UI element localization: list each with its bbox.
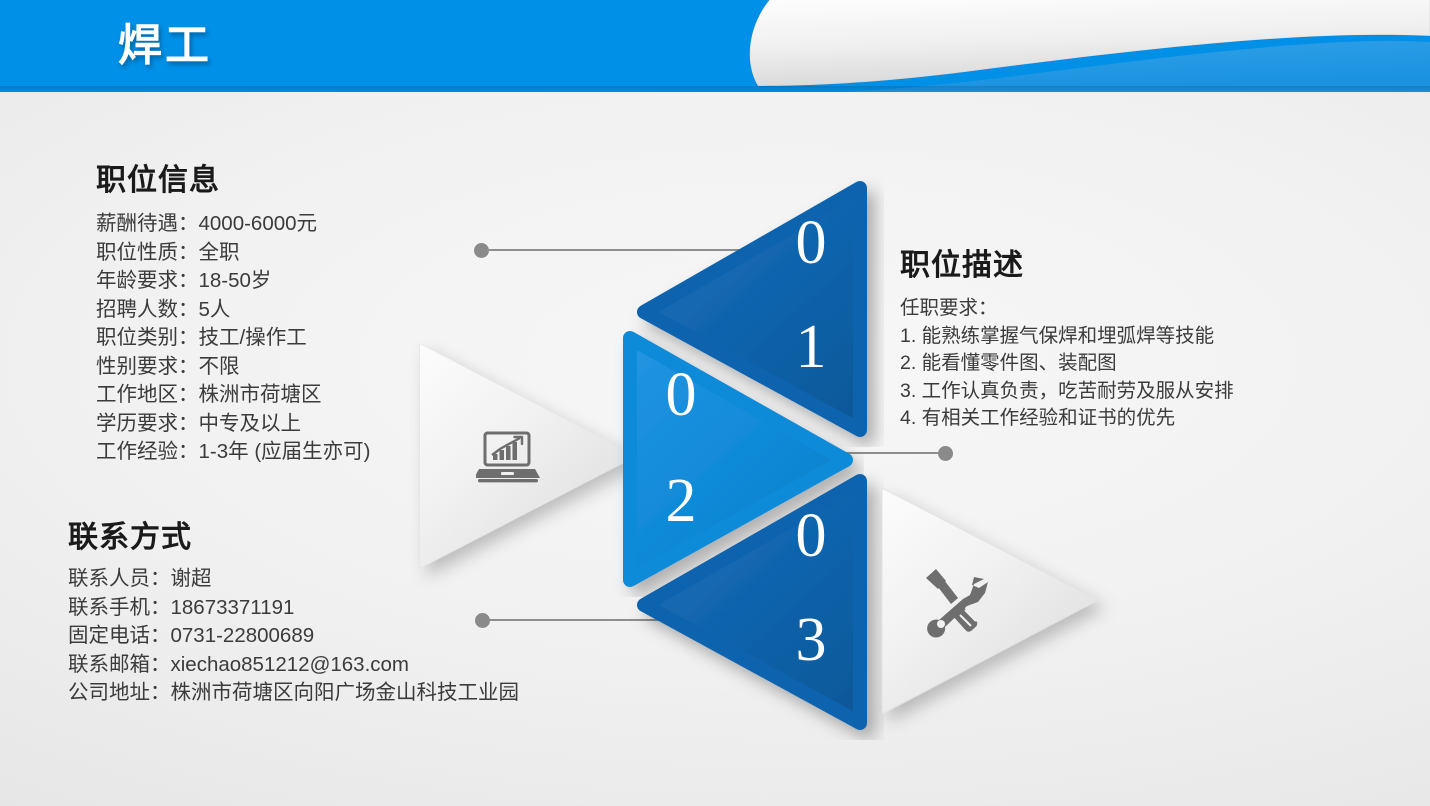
job-info-row: 工作地区：株洲市荷塘区 <box>96 381 370 410</box>
contact-value: 谢超 <box>171 567 212 590</box>
job-info-row: 薪酬待遇：4000-6000元 <box>96 210 370 239</box>
job-info-value: 1-3年 (应届生亦可) <box>199 440 371 463</box>
job-description-item: 4. 有相关工作经验和证书的优先 <box>900 405 1234 433</box>
header-swoosh-decoration <box>570 0 1430 92</box>
job-info-row: 职位类别：技工/操作工 <box>96 324 370 353</box>
contact-value: 0731-22800689 <box>171 624 315 647</box>
job-info-value: 5人 <box>199 298 231 321</box>
job-info-label: 职位性质： <box>96 241 199 264</box>
contact-label: 固定电话： <box>68 624 171 647</box>
contact-label: 公司地址： <box>68 681 171 704</box>
job-info-row: 招聘人数：5人 <box>96 296 370 325</box>
contact-label: 联系邮箱： <box>68 653 171 676</box>
job-info-label: 工作地区： <box>96 383 199 406</box>
job-info-value: 全职 <box>199 241 240 264</box>
header-bar: 焊工 <box>0 0 1430 92</box>
connector-dot <box>474 243 489 258</box>
contact-row: 联系邮箱：xiechao851212@163.com <box>68 651 519 680</box>
job-info-value: 技工/操作工 <box>199 326 307 349</box>
job-info-value: 不限 <box>199 355 240 378</box>
job-info-label: 职位类别： <box>96 326 199 349</box>
tri-tools-shape <box>866 472 1116 734</box>
job-info-list: 薪酬待遇：4000-6000元 职位性质：全职 年龄要求：18-50岁 招聘人数… <box>96 210 370 467</box>
job-info-heading: 职位信息 <box>96 155 220 199</box>
contact-row: 固定电话：0731-22800689 <box>68 622 519 651</box>
job-description-item: 2. 能看懂零件图、装配图 <box>900 350 1234 378</box>
contact-value: 18673371191 <box>171 596 295 619</box>
job-description-item: 1. 能熟练掌握气保焊和埋弧焊等技能 <box>900 323 1234 351</box>
job-description-intro: 任职要求： <box>900 295 1234 323</box>
connector-dot <box>938 446 953 461</box>
job-info-value: 中专及以上 <box>199 412 302 435</box>
job-info-label: 学历要求： <box>96 412 199 435</box>
job-info-value: 株洲市荷塘区 <box>199 383 322 406</box>
contact-value: 株洲市荷塘区向阳广场金山科技工业园 <box>171 681 520 704</box>
job-info-label: 性别要求： <box>96 355 199 378</box>
slide-canvas: 焊工 职位信息 薪酬待遇：4000-6000元 职位性质：全职 年龄要求：18-… <box>0 0 1430 806</box>
tri-03-shape <box>628 465 884 740</box>
job-info-value: 18-50岁 <box>199 269 272 292</box>
job-description-item: 3. 工作认真负责，吃苦耐劳及服从安排 <box>900 378 1234 406</box>
connector-dot <box>475 613 490 628</box>
contact-row: 公司地址：株洲市荷塘区向阳广场金山科技工业园 <box>68 679 519 708</box>
job-info-label: 招聘人数： <box>96 298 199 321</box>
curved-swoosh-icon <box>570 0 1430 92</box>
job-info-label: 工作经验： <box>96 440 199 463</box>
contact-row: 联系手机：18673371191 <box>68 594 519 623</box>
page-title: 焊工 <box>118 16 212 76</box>
job-info-row: 工作经验：1-3年 (应届生亦可) <box>96 438 370 467</box>
job-info-label: 年龄要求： <box>96 269 199 292</box>
job-info-row: 学历要求：中专及以上 <box>96 410 370 439</box>
job-info-row: 年龄要求：18-50岁 <box>96 267 370 296</box>
contact-value: xiechao851212@163.com <box>171 653 410 676</box>
contact-label: 联系手机： <box>68 596 171 619</box>
job-info-row: 性别要求：不限 <box>96 353 370 382</box>
job-info-row: 职位性质：全职 <box>96 239 370 268</box>
job-info-value: 4000-6000元 <box>199 212 318 235</box>
job-description-list: 任职要求： 1. 能熟练掌握气保焊和埋弧焊等技能 2. 能看懂零件图、装配图 3… <box>900 295 1234 433</box>
job-info-label: 薪酬待遇： <box>96 212 199 235</box>
job-description-heading: 职位描述 <box>900 240 1024 284</box>
contact-label: 联系人员： <box>68 567 171 590</box>
contact-heading: 联系方式 <box>68 512 192 556</box>
